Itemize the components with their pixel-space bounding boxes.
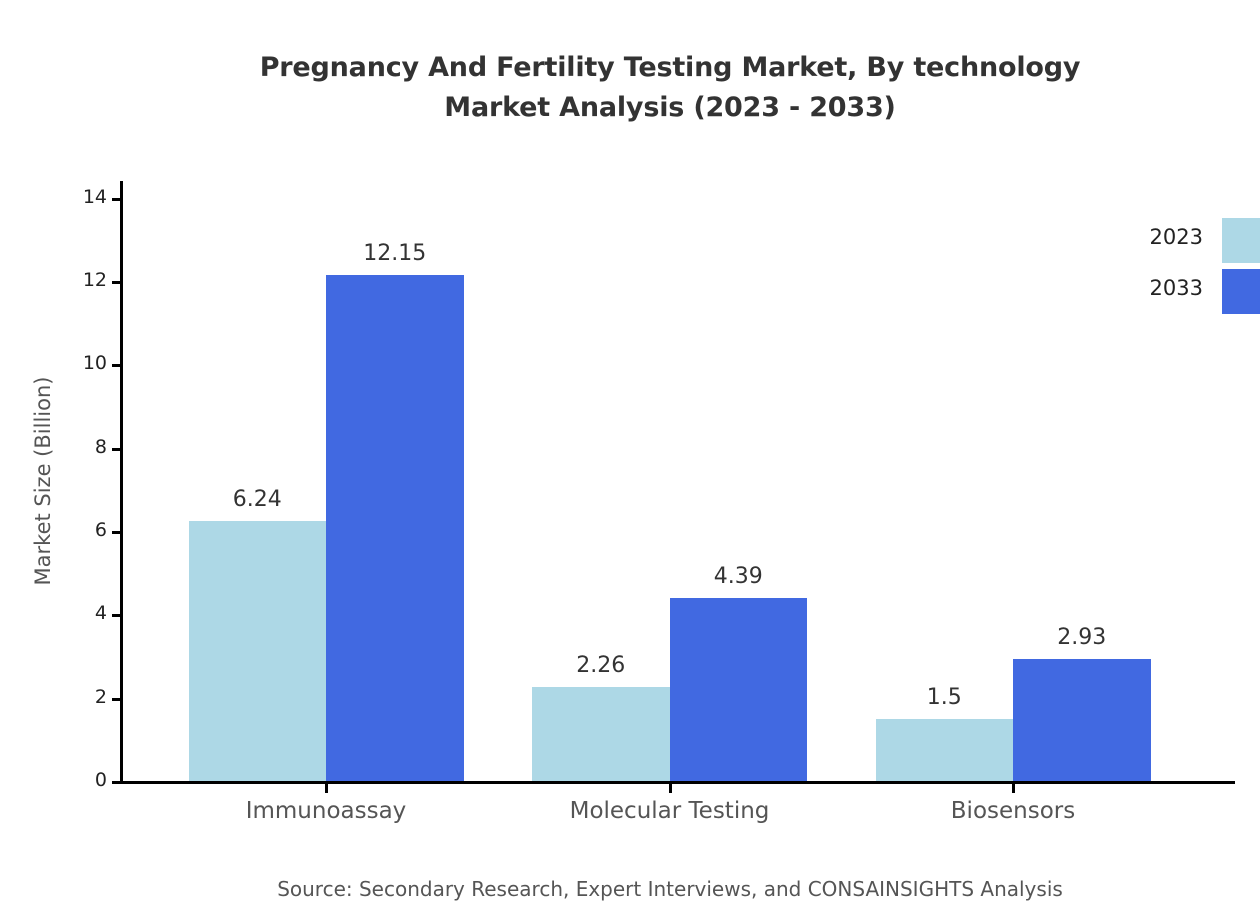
chart-title: Pregnancy And Fertility Testing Market, … [0,48,1260,128]
y-tick-label: 2 [95,686,107,708]
y-tick-mark [112,448,120,451]
legend-label: 2023 [1131,225,1203,249]
y-tick-mark [112,781,120,784]
chart-title-line1: Pregnancy And Fertility Testing Market, … [260,52,1081,83]
legend-item[interactable]: 2033 [1131,269,1260,320]
y-tick-mark [112,614,120,617]
y-tick-label: 6 [95,519,107,541]
x-axis-spine [120,781,1235,784]
y-tick-mark [112,531,120,534]
bar-value-label: 2.93 [1057,625,1106,650]
y-axis-label-wrapper: Market Size (Billion) [10,181,50,781]
y-tick-label: 10 [83,352,107,374]
bar-value-label: 4.39 [714,564,763,589]
bar[interactable] [876,719,1014,782]
chart-title-line2: Market Analysis (2023 - 2033) [444,92,895,123]
x-tick-label: Biosensors [951,798,1075,824]
bar[interactable] [532,687,670,781]
bar[interactable] [326,275,464,781]
x-tick-mark [325,784,328,793]
plot-area: 02468101214 ImmunoassayMolecular Testing… [120,181,1235,781]
chart-figure: Pregnancy And Fertility Testing Market, … [0,0,1260,920]
bar-value-label: 2.26 [576,653,625,678]
x-tick-mark [669,784,672,793]
legend-label: 2033 [1131,276,1203,300]
legend-item[interactable]: 2023 [1131,218,1260,269]
y-axis-label: Market Size (Billion) [31,181,55,781]
bar[interactable] [1013,659,1151,781]
source-note: Source: Secondary Research, Expert Inter… [0,877,1260,901]
x-tick-mark [1012,784,1015,793]
y-tick-mark [112,364,120,367]
bar-value-label: 12.15 [363,241,426,266]
bar-value-label: 6.24 [233,487,282,512]
bar[interactable] [189,521,327,781]
y-tick-mark [112,698,120,701]
y-axis-spine [120,181,123,781]
y-tick-label: 0 [95,769,107,791]
y-tick-mark [112,198,120,201]
legend-swatch [1222,269,1260,314]
y-tick-label: 14 [83,186,107,208]
y-tick-label: 12 [83,269,107,291]
legend-swatch [1222,218,1260,263]
bar[interactable] [670,598,808,781]
x-tick-label: Immunoassay [246,798,407,824]
bar-value-label: 1.5 [927,685,962,710]
chart-legend: 20232033 [1131,218,1260,320]
y-tick-mark [112,281,120,284]
y-tick-label: 4 [95,602,107,624]
y-tick-label: 8 [95,436,107,458]
x-tick-label: Molecular Testing [570,798,770,824]
